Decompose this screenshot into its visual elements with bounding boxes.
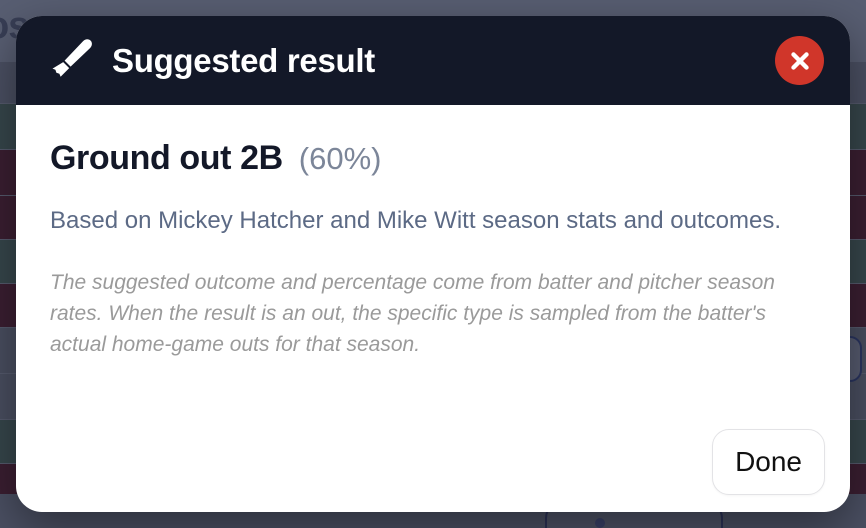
dialog-title: Suggested result (112, 42, 775, 80)
background-action-dot-icon (595, 518, 605, 528)
result-probability: (60%) (299, 141, 382, 177)
baseball-bat-icon (50, 38, 94, 84)
suggested-result-dialog: Suggested result Ground out 2B (60%) Bas… (16, 16, 850, 512)
result-outcome-label: Ground out 2B (50, 139, 283, 178)
close-x-icon (789, 50, 811, 72)
result-methodology-note: The suggested outcome and percentage com… (50, 267, 810, 360)
done-button[interactable]: Done (712, 429, 825, 495)
result-description: Based on Mickey Hatcher and Mike Witt se… (50, 204, 814, 239)
close-button[interactable] (775, 36, 824, 85)
dialog-header: Suggested result (16, 16, 850, 105)
suggested-result-line: Ground out 2B (60%) (50, 139, 814, 178)
dialog-body: Ground out 2B (60%) Based on Mickey Hatc… (16, 105, 850, 360)
dialog-footer: Done (712, 429, 825, 495)
